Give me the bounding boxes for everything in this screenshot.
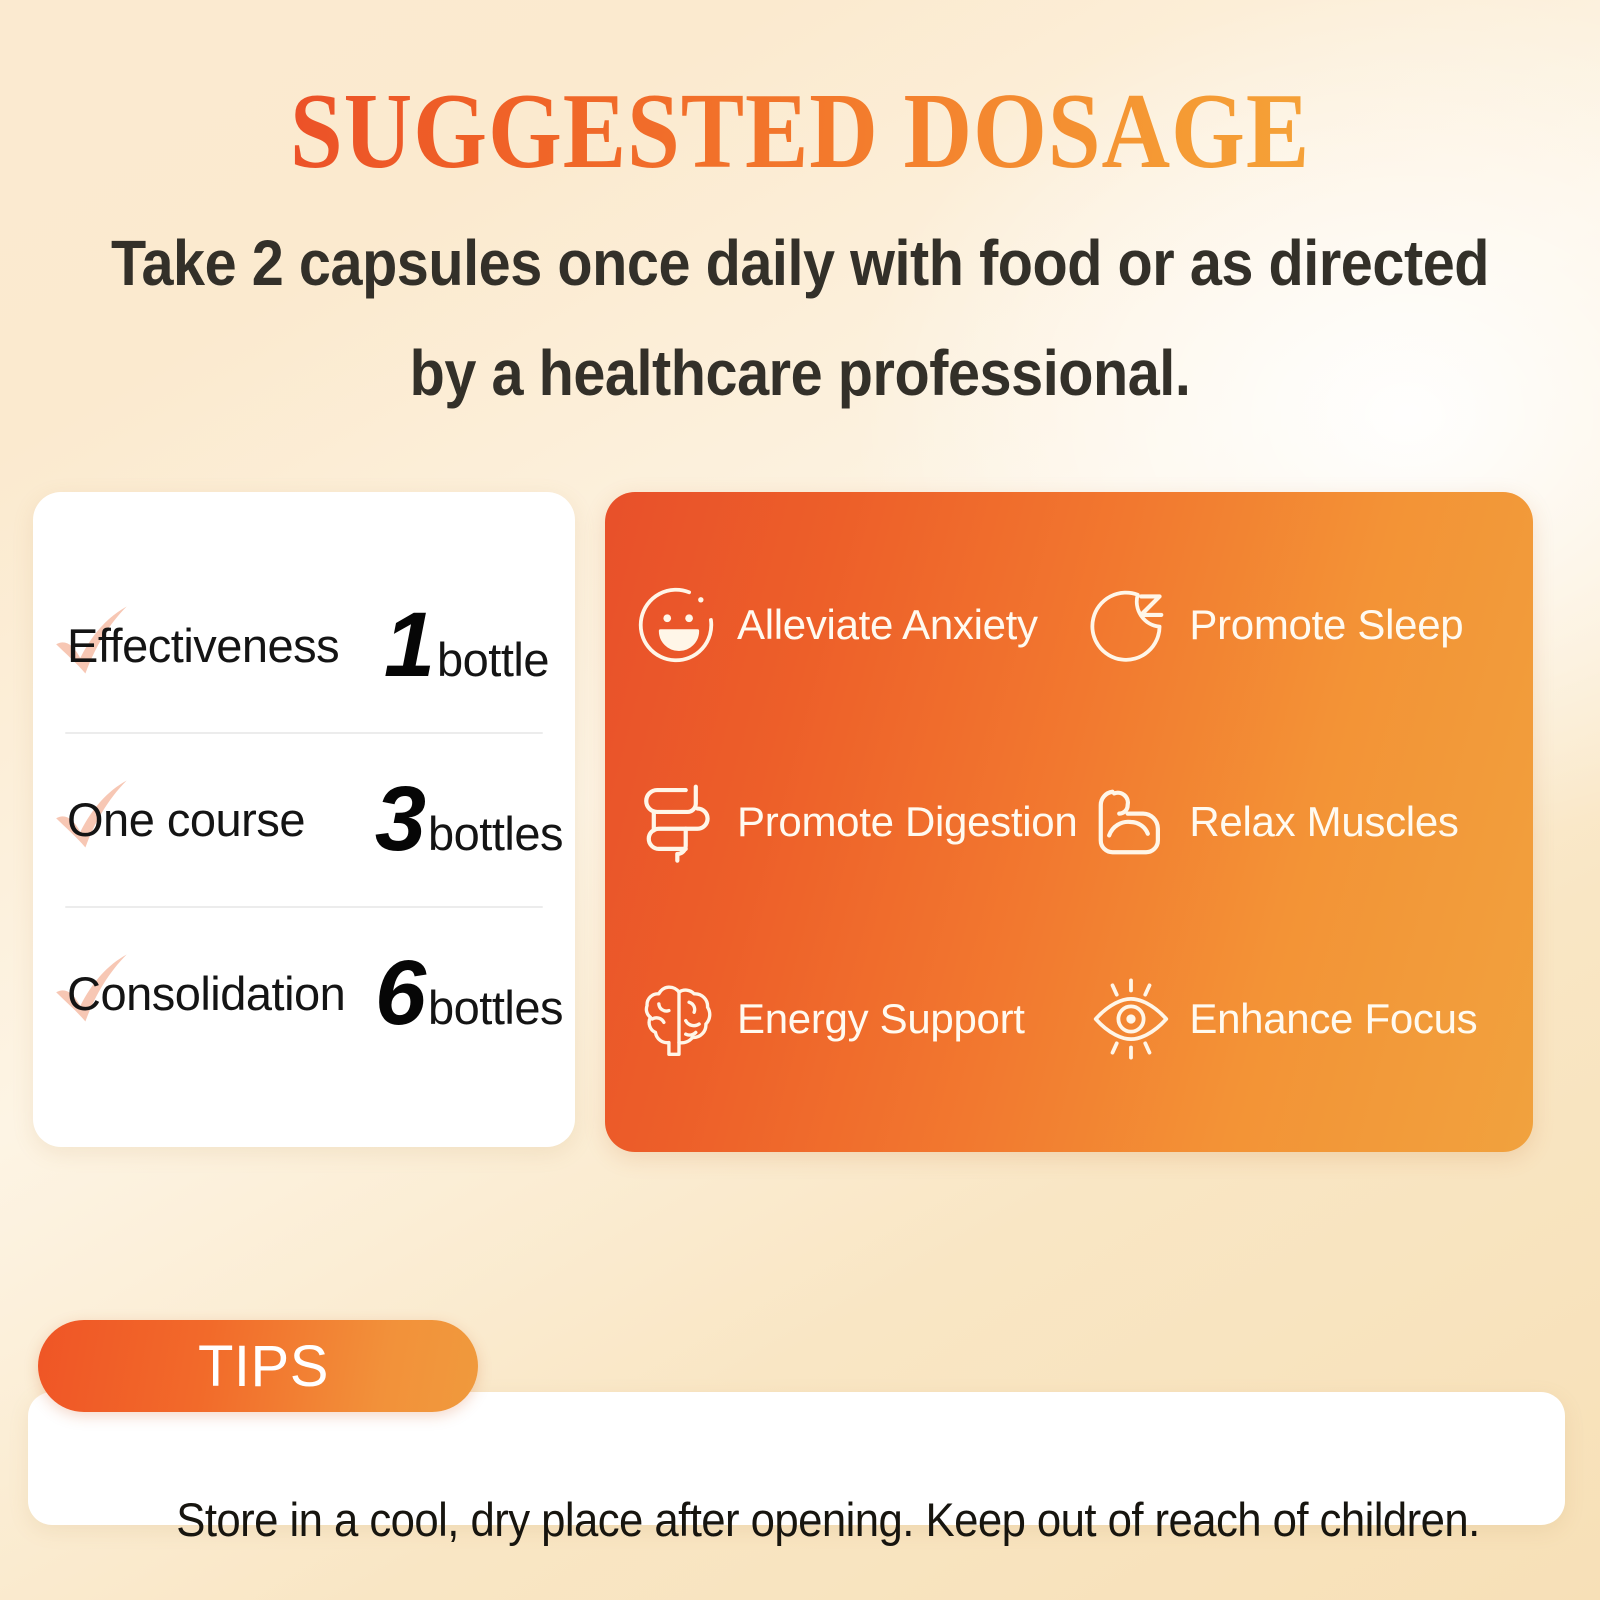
benefit-label: Promote Sleep — [1189, 601, 1463, 649]
brain-icon — [637, 977, 721, 1061]
benefit-enhance-focus: Enhance Focus — [1077, 921, 1511, 1118]
benefit-relax-muscles: Relax Muscles — [1077, 723, 1511, 920]
dosage-label: Effectiveness — [67, 618, 339, 673]
dosage-quantity: 3 bottles — [375, 778, 563, 861]
main-content-row: Effectiveness 1 bottle One course 3 bott… — [0, 492, 1600, 1152]
flexed-bicep-icon — [1089, 780, 1173, 864]
dosage-number: 6 — [375, 952, 424, 1035]
intestine-icon — [637, 780, 721, 864]
benefit-label: Enhance Focus — [1189, 995, 1477, 1043]
tips-text: Store in a cool, dry place after opening… — [84, 1492, 1572, 1547]
dosage-unit: bottles — [428, 806, 563, 861]
dosage-row-effectiveness: Effectiveness 1 bottle — [33, 560, 575, 732]
page-subtitle: Take 2 capsules once daily with food or … — [80, 208, 1520, 428]
dosage-card: Effectiveness 1 bottle One course 3 bott… — [33, 492, 575, 1147]
page-title: SUGGESTED DOSAGE — [96, 78, 1504, 186]
dosage-quantity: 6 bottles — [375, 952, 563, 1035]
benefit-label: Relax Muscles — [1189, 798, 1458, 846]
benefit-label: Alleviate Anxiety — [737, 601, 1038, 649]
tips-badge-label: TIPS — [198, 1333, 329, 1400]
dosage-quantity: 1 bottle — [384, 604, 549, 687]
dosage-number: 3 — [375, 778, 424, 861]
header: SUGGESTED DOSAGE Take 2 capsules once da… — [0, 78, 1600, 428]
eye-icon — [1089, 977, 1173, 1061]
dosage-label: One course — [67, 792, 305, 847]
benefit-label: Energy Support — [737, 995, 1025, 1043]
dosage-row-consolidation: Consolidation 6 bottles — [33, 908, 575, 1080]
benefit-energy-support: Energy Support — [625, 921, 1077, 1118]
dosage-label: Consolidation — [67, 966, 345, 1021]
benefit-promote-digestion: Promote Digestion — [625, 723, 1077, 920]
dosage-row-one-course: One course 3 bottles — [33, 734, 575, 906]
moon-sleep-icon — [1089, 583, 1173, 667]
benefit-promote-sleep: Promote Sleep — [1077, 526, 1511, 723]
tips-badge: TIPS — [38, 1320, 478, 1412]
dosage-unit: bottle — [437, 632, 549, 687]
benefits-panel: Alleviate Anxiety Promote Sleep Promot — [605, 492, 1533, 1152]
dosage-unit: bottles — [428, 980, 563, 1035]
suggested-dosage-infographic: SUGGESTED DOSAGE Take 2 capsules once da… — [0, 0, 1600, 1600]
benefit-alleviate-anxiety: Alleviate Anxiety — [625, 526, 1077, 723]
tips-section: Store in a cool, dry place after opening… — [0, 1320, 1600, 1550]
dosage-number: 1 — [384, 604, 433, 687]
benefit-label: Promote Digestion — [737, 798, 1077, 846]
smiley-face-icon — [637, 583, 721, 667]
